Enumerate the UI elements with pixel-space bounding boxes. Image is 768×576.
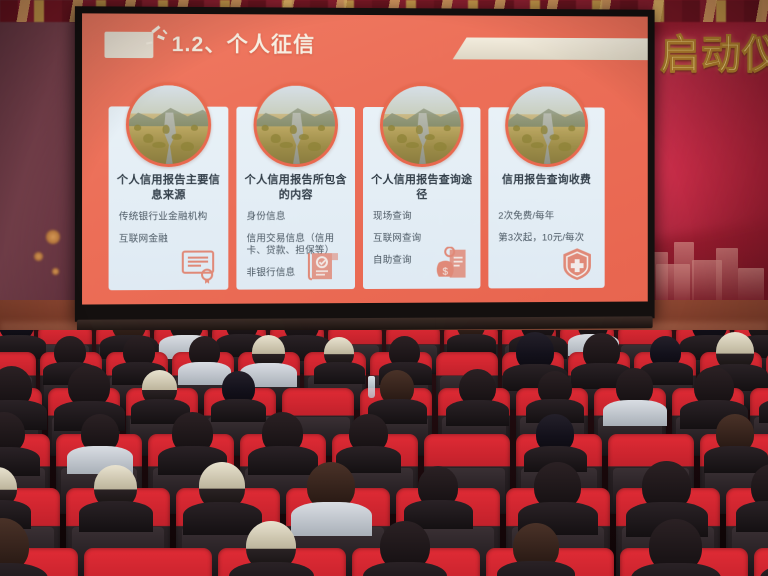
card-bullet-item: 2次免费/每年 [498, 211, 597, 223]
wall-light-fixture [34, 252, 43, 261]
title-decoration-bar [453, 37, 648, 60]
audience-member-shoulders [79, 501, 153, 532]
document-shield-icon [307, 247, 347, 283]
card-bullet-item: 互联网查询 [373, 233, 473, 245]
card-photo-great-wall [254, 83, 338, 167]
audience-member-shoulders [447, 334, 495, 354]
audience-member-shoulders [603, 400, 666, 427]
screenshot-root: “征 启动仪式 1.2、个人征信 个人信用报告主要信息来源传统银行业金融机构互联… [0, 0, 768, 576]
slide-card: 个人信用报告所包含的内容身份信息信用交易信息（信用卡、贷款、担保等）非银行信息 [236, 107, 355, 290]
card-bullet-item: 现场查询 [373, 211, 473, 223]
projection-screen: 1.2、个人征信 个人信用报告主要信息来源传统银行业金融机构互联网金融 个人信用… [75, 6, 655, 322]
card-photo-great-wall [380, 83, 464, 167]
audience-member-shoulders [291, 502, 372, 536]
skyline-building [716, 248, 738, 304]
card-title: 个人信用报告主要信息来源 [115, 173, 223, 203]
card-title: 个人信用报告所包含的内容 [242, 173, 349, 203]
slide-card: 个人信用报告查询途径现场查询互联网查询自助查询 $ [363, 107, 480, 289]
audience-member-shoulders [314, 362, 365, 383]
confetti-shape [157, 35, 165, 40]
card-photo-great-wall [505, 83, 588, 167]
confetti-shape [163, 29, 168, 34]
certificate-icon [180, 247, 220, 283]
slide-card-group: 个人信用报告主要信息来源传统银行业金融机构互联网金融 个人信用报告所包含的内容身… [100, 80, 630, 292]
slide-card: 个人信用报告主要信息来源传统银行业金融机构互联网金融 [109, 106, 229, 290]
card-bullet-item: 传统银行业金融机构 [119, 211, 220, 223]
wall-light-fixture [46, 230, 60, 244]
card-title: 个人信用报告查询途径 [369, 173, 474, 203]
card-photo-great-wall [126, 82, 211, 167]
svg-text:$: $ [442, 267, 448, 278]
confetti-shape [151, 25, 160, 33]
audience-member-shoulders [183, 502, 262, 535]
skyline-building [738, 268, 764, 304]
audience-member-shoulders [446, 400, 509, 426]
auditorium-seat [84, 548, 212, 576]
slide-card: 信用报告查询收费2次免费/每年第3次起，10元/每次 [488, 107, 604, 288]
audience-member-shoulders [736, 501, 768, 532]
slide-title: 1.2、个人征信 [172, 28, 315, 59]
shield-plus-icon [557, 246, 596, 282]
presentation-slide: 1.2、个人征信 个人信用报告主要信息来源传统银行业金融机构互联网金融 个人信用… [82, 13, 648, 304]
wall-light-fixture [52, 268, 59, 275]
skyline-graphic [640, 234, 768, 304]
money-document-icon: $ [433, 247, 473, 283]
audience-member-shoulders [497, 561, 575, 576]
water-bottle [368, 376, 375, 398]
title-decoration-block [104, 32, 153, 58]
audience-area [0, 330, 768, 576]
audience-member-shoulders [248, 446, 317, 475]
card-bullet-item: 互联网金融 [119, 233, 220, 245]
audience-member-shoulders [211, 399, 267, 422]
skyline-building [674, 242, 694, 304]
card-bullet-item: 身份信息 [247, 211, 347, 223]
card-bullet-item: 第3次起，10元/每次 [498, 232, 597, 244]
card-title: 信用报告查询收费 [494, 173, 598, 188]
backdrop-right-text: 启动仪式 [660, 22, 768, 80]
audience-member-shoulders [229, 562, 313, 576]
